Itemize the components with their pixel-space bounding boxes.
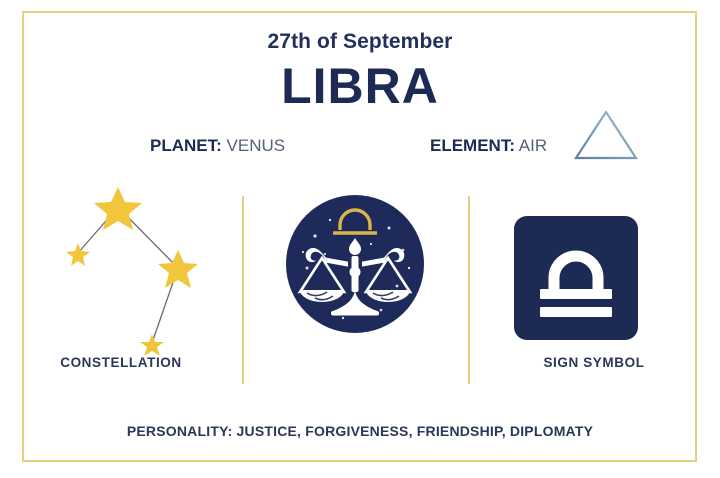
libra-constellation-icon [30,185,230,355]
zodiac-card: 27th of September LIBRA PLANET: VENUS EL… [0,0,720,478]
panel-divider-left [242,196,244,384]
planet-label: PLANET: [150,136,222,155]
element-attribute: ELEMENT: AIR [430,136,547,156]
air-triangle-icon [568,104,644,166]
sign-symbol-label: SIGN SYMBOL [468,355,720,370]
libra-scales-emblem [285,194,425,334]
libra-glyph-icon [514,216,638,340]
personality-text: PERSONALITY: JUSTICE, FORGIVENESS, FRIEN… [0,423,720,439]
attributes-row: PLANET: VENUS ELEMENT: AIR [0,136,720,166]
planet-value: VENUS [227,136,286,155]
element-value: AIR [519,136,547,155]
planet-attribute: PLANET: VENUS [150,136,285,156]
element-label: ELEMENT: [430,136,515,155]
constellation-label: CONSTELLATION [0,355,242,370]
date-heading: 27th of September [0,30,720,54]
